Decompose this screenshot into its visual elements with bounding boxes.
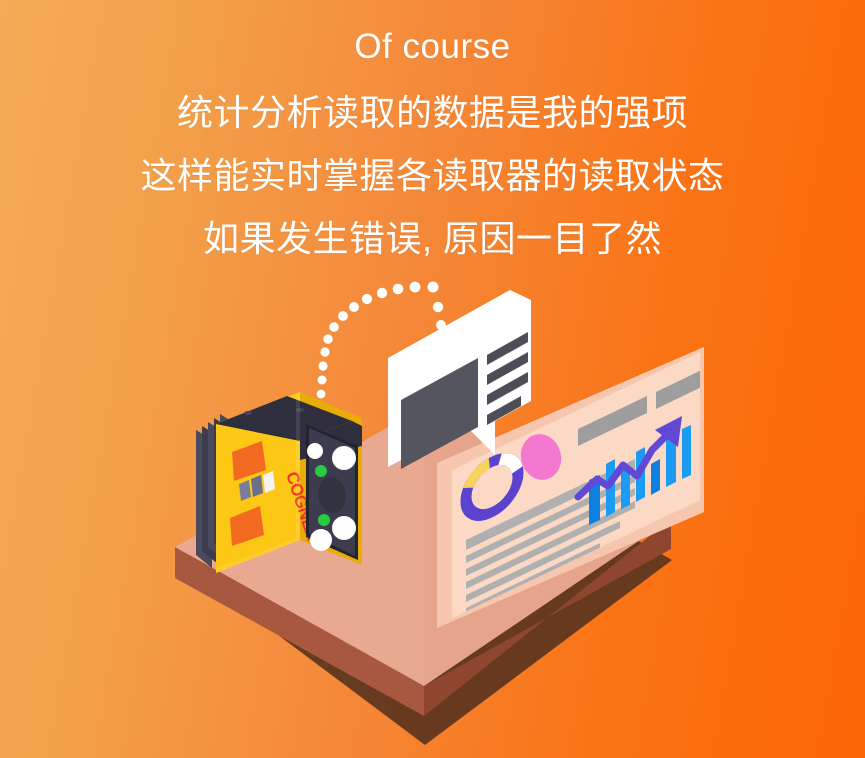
isometric-illustration: COGNEX (0, 0, 865, 758)
scanner-led (332, 516, 356, 540)
scanner-status-led (315, 465, 327, 477)
scanner-led (307, 443, 323, 459)
illustration-page: Of course 统计分析读取的数据是我的强项 这样能实时掌握各读取器的读取状… (0, 0, 865, 758)
scanner-status-led (318, 514, 330, 526)
scanner-led (310, 529, 332, 551)
scanner-lens-panel (306, 424, 358, 560)
barcode-reader-device[interactable]: COGNEX (196, 392, 362, 573)
scanner-led (332, 446, 356, 470)
